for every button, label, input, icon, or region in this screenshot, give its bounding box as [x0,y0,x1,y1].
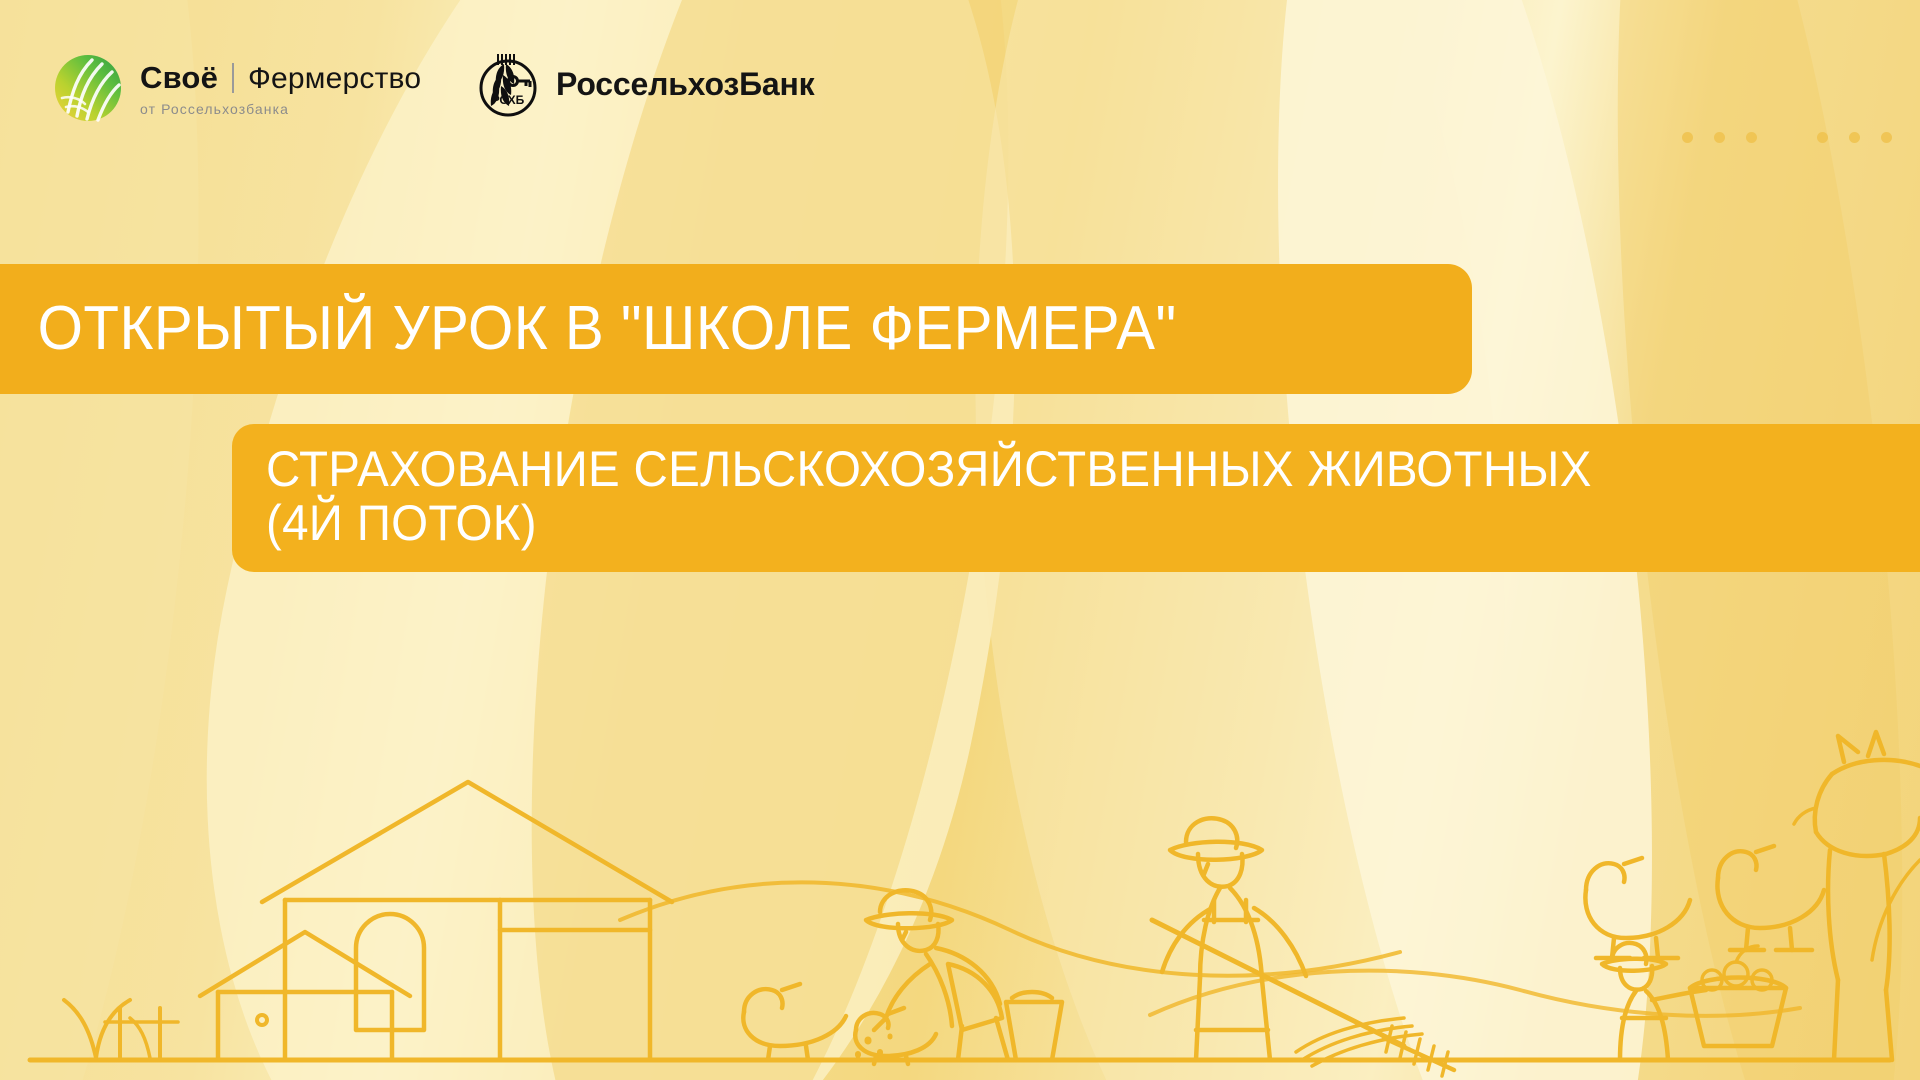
dot [1881,132,1892,143]
svoe-logo-word-1: Своё [140,60,218,96]
rosselkhozbank-logo-text: РоссельхозБанк [556,66,814,103]
subtitle-line-2: (4Й ПОТОК) [266,496,1837,550]
main-title-bar: ОТКРЫТЫЙ УРОК В "ШКОЛЕ ФЕРМЕРА" [0,264,1472,394]
subtitle-bar: СТРАХОВАНИЕ СЕЛЬСКОХОЗЯЙСТВЕННЫХ ЖИВОТНЫ… [232,424,1920,572]
dot [1682,132,1693,143]
dot [1817,132,1828,143]
svoe-logo-word-2: Фермерство [248,62,421,96]
dot [1746,132,1757,143]
banner-header: Своё Фермерство от Россельхозбанка [0,0,1920,190]
promo-banner: Своё Фермерство от Россельхозбанка [0,0,1920,1080]
farm-scene-line-art [0,560,1920,1080]
svoe-logo-tagline: от Россельхозбанка [140,101,421,117]
logo-divider [232,63,234,93]
dot [1849,132,1860,143]
rosselkhozbank-logo: РСХБ РоссельхозБанк [470,48,814,120]
rosselkhozbank-wheat-key-emblem-icon: РСХБ [470,48,542,120]
svg-text:РСХБ: РСХБ [492,93,525,107]
dot [1714,132,1725,143]
decorative-dots [1682,132,1892,143]
page-title: ОТКРЫТЫЙ УРОК В "ШКОЛЕ ФЕРМЕРА" [0,298,1177,360]
svoe-fermerstvo-leaf-logo-icon [52,52,124,124]
svoe-fermerstvo-logo: Своё Фермерство от Россельхозбанка [52,52,421,124]
subtitle-line-1: СТРАХОВАНИЕ СЕЛЬСКОХОЗЯЙСТВЕННЫХ ЖИВОТНЫ… [266,442,1837,496]
